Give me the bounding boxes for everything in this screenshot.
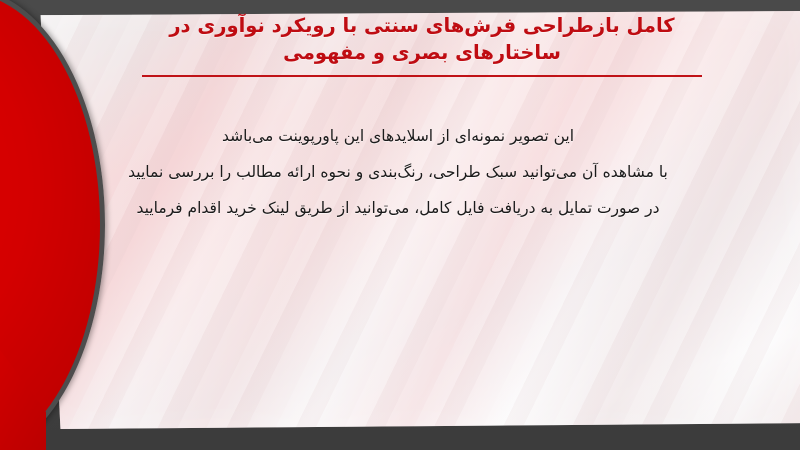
slide-body: این تصویر نمونه‌ای از اسلایدهای این پاور… <box>108 118 688 226</box>
presentation-slide: کامل بازطراحی فرش‌های سنتی با رویکرد نوآ… <box>0 0 800 450</box>
body-line-3: در صورت تمایل به دریافت فایل کامل، می‌تو… <box>108 190 688 226</box>
body-line-1: این تصویر نمونه‌ای از اسلایدهای این پاور… <box>108 118 688 154</box>
title-line-1: کامل بازطراحی فرش‌های سنتی با رویکرد نوآ… <box>118 12 726 39</box>
title-line-2: ساختارهای بصری و مفهومی <box>118 39 726 66</box>
body-line-2: با مشاهده آن می‌توانید سبک طراحی، رنگ‌بن… <box>108 154 688 190</box>
title-divider <box>142 75 702 77</box>
slide-title: کامل بازطراحی فرش‌های سنتی با رویکرد نوآ… <box>118 12 726 77</box>
